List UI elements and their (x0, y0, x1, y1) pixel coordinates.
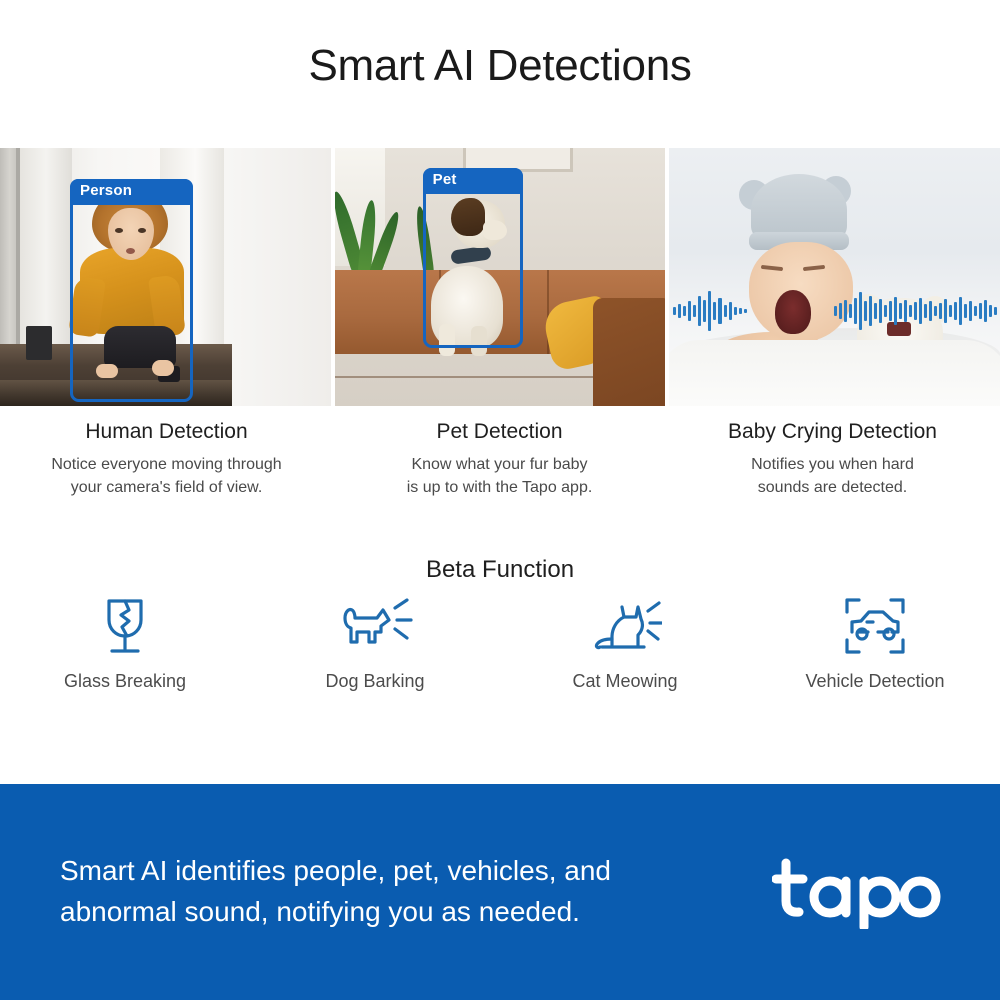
waveform-bar (734, 307, 737, 315)
beta-function-row: Glass Breaking Dog Barking Cat (0, 595, 1000, 692)
beta-label: Glass Breaking (64, 671, 186, 692)
waveform-bar (944, 299, 947, 323)
caption-desc-line-1: Notifies you when hard (684, 453, 981, 476)
waveform-bar (678, 304, 681, 318)
waveform-bar (894, 297, 897, 325)
feature-photo-row: Person Pet (0, 148, 1000, 406)
waveform-bar (914, 302, 917, 320)
waveform-bar (859, 292, 862, 330)
caption-desc-line-2: sounds are detected. (684, 476, 981, 499)
footer-banner: Smart AI identifies people, pet, vehicle… (0, 784, 1000, 1000)
cat-meowing-icon (588, 595, 662, 657)
waveform-bar (904, 300, 907, 322)
waveform-bar (729, 302, 732, 320)
caption-pet-detection: Pet Detection Know what your fur baby is… (333, 418, 666, 500)
waveform-bar (708, 291, 711, 331)
waveform-bar (939, 303, 942, 319)
floor-object (26, 326, 52, 360)
detection-label-pet: Pet (423, 168, 523, 194)
caption-desc-line-1: Know what your fur baby (351, 453, 648, 476)
waveform-bar (949, 305, 952, 317)
detection-box-person: Person (70, 179, 193, 402)
page-title: Smart AI Detections (0, 0, 1000, 90)
waveform-bar (979, 303, 982, 319)
waveform-bar (969, 301, 972, 321)
feature-caption-row: Human Detection Notice everyone moving t… (0, 418, 1000, 500)
audio-waveform-icon (669, 288, 1000, 334)
waveform-bar (834, 306, 837, 316)
detection-label-person: Person (70, 179, 193, 205)
caption-title: Pet Detection (351, 418, 648, 445)
vehicle-detection-icon (843, 595, 907, 657)
caption-desc-line-2: is up to with the Tapo app. (351, 476, 648, 499)
waveform-bar (924, 304, 927, 318)
feature-photo-pet-detection: Pet (335, 148, 666, 406)
curtain-left (20, 148, 72, 348)
waveform-bar (854, 298, 857, 324)
waveform-bar (879, 299, 882, 323)
dog-barking-icon (337, 595, 413, 657)
waveform-bar (844, 300, 847, 322)
waveform-bar (934, 306, 937, 316)
waveform-bar (688, 301, 691, 321)
beta-item-dog-barking[interactable]: Dog Barking (250, 595, 500, 692)
waveform-bar (929, 301, 932, 321)
beta-function-heading: Beta Function (0, 556, 1000, 584)
tapo-logo (772, 855, 944, 929)
blanket (669, 340, 1000, 406)
footer-tagline-line-1: Smart AI identifies people, pet, vehicle… (60, 851, 611, 892)
footer-tagline: Smart AI identifies people, pet, vehicle… (60, 851, 611, 932)
waveform-bar (909, 305, 912, 317)
detection-box-pet: Pet (423, 168, 523, 348)
waveform-bar (959, 297, 962, 325)
feature-photo-human-detection: Person (0, 148, 331, 406)
waveform-bar (713, 302, 716, 320)
waveform-bar (839, 303, 842, 319)
waveform-bar (954, 302, 957, 320)
beta-label: Dog Barking (325, 671, 424, 692)
waveform-bar (683, 306, 686, 316)
caption-desc-line-1: Notice everyone moving through (18, 453, 315, 476)
caption-title: Human Detection (18, 418, 315, 445)
waveform-bar (724, 305, 727, 317)
caption-title: Baby Crying Detection (684, 418, 981, 445)
waveform-bar (693, 305, 696, 317)
waveform-bar (919, 298, 922, 324)
waveform-bar (984, 300, 987, 322)
footer-tagline-line-2: abnormal sound, notifying you as needed. (60, 892, 611, 933)
beta-item-cat-meowing[interactable]: Cat Meowing (500, 595, 750, 692)
beta-label: Cat Meowing (572, 671, 677, 692)
caption-human-detection: Human Detection Notice everyone moving t… (0, 418, 333, 500)
waveform-bar (673, 307, 676, 315)
broken-glass-icon (98, 595, 152, 657)
beta-item-vehicle-detection[interactable]: Vehicle Detection (750, 595, 1000, 692)
beta-label: Vehicle Detection (805, 671, 944, 692)
couch-armrest (593, 298, 666, 406)
waveform-bar (718, 298, 721, 324)
waveform-bar (869, 296, 872, 326)
caption-baby-crying-detection: Baby Crying Detection Notifies you when … (666, 418, 999, 500)
waveform-bar (703, 300, 706, 322)
waveform-bar (698, 296, 701, 326)
waveform-bar (874, 303, 877, 319)
waveform-bar (884, 305, 887, 317)
waveform-bar (989, 305, 992, 317)
waveform-bar (739, 308, 742, 314)
caption-desc-line-2: your camera's field of view. (18, 476, 315, 499)
waveform-bar (964, 304, 967, 318)
waveform-bar (974, 306, 977, 316)
beta-item-glass-breaking[interactable]: Glass Breaking (0, 595, 250, 692)
waveform-bar (889, 301, 892, 321)
waveform-bar (744, 309, 747, 313)
waveform-bar (899, 303, 902, 319)
waveform-bar (849, 304, 852, 318)
feature-photo-baby-crying-detection (669, 148, 1000, 406)
waveform-bar (864, 301, 867, 321)
waveform-bar (994, 307, 997, 315)
